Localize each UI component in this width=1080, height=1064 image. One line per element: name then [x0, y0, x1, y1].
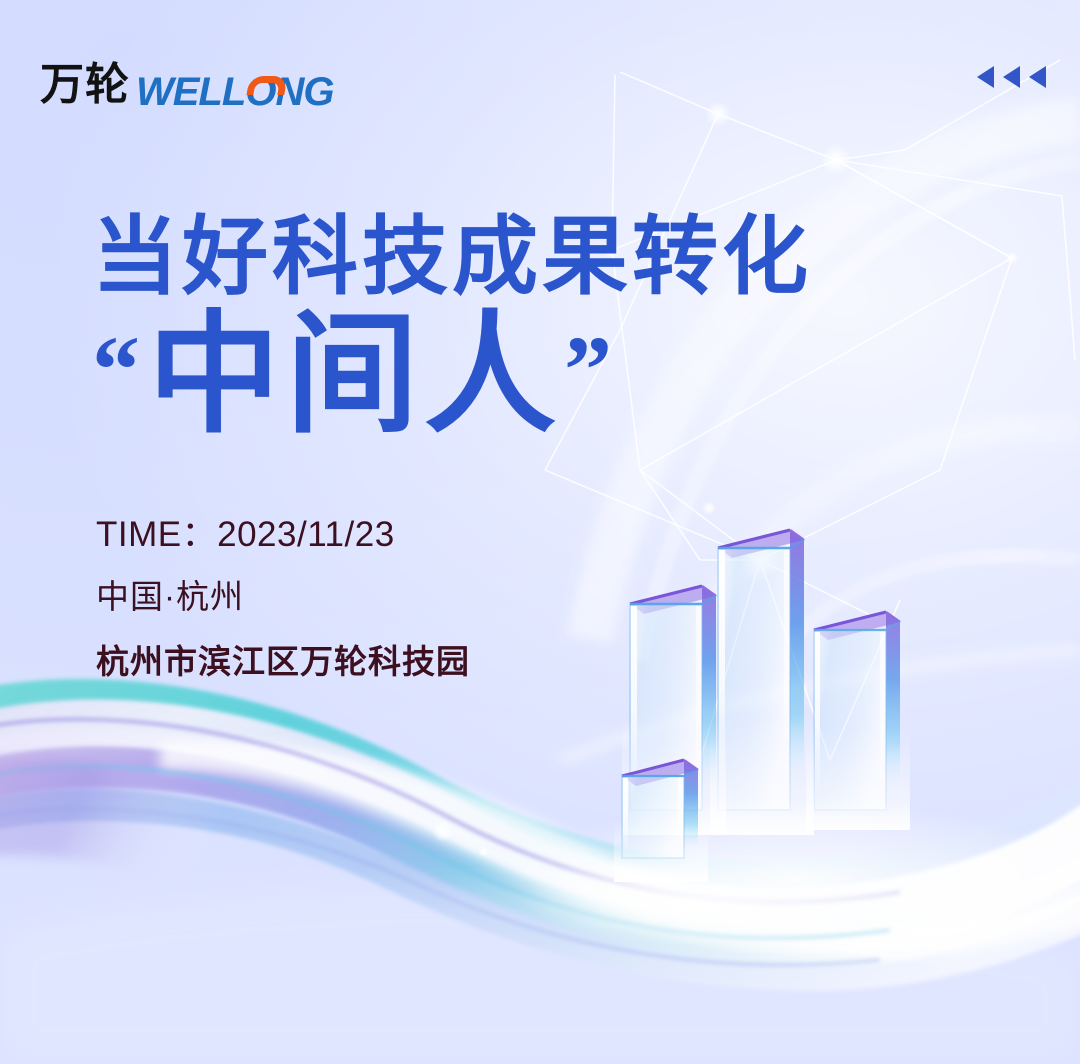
logo-english-name: WELL O NG: [136, 72, 333, 108]
left-arrow-icon-3: [1029, 66, 1046, 88]
logo-letter-o-accent: O: [245, 72, 275, 112]
bar-4: [806, 612, 910, 830]
left-arrow-icon-1: [977, 66, 994, 88]
headline-line-1: 当好科技成果转化: [92, 214, 852, 302]
poster-header: 万轮 WELL O NG: [0, 0, 1080, 150]
wellong-logo[interactable]: 万轮 WELL O NG: [40, 62, 333, 108]
event-info-block: TIME：2023/11/23 中国·杭州 杭州市滨江区万轮科技园: [96, 506, 470, 683]
quote-open: “: [92, 322, 146, 418]
triple-left-arrow-icon: [977, 66, 1046, 88]
left-arrow-icon-2: [1003, 66, 1020, 88]
headline-keyword: 中间人: [148, 308, 562, 443]
event-time: TIME：2023/11/23: [96, 506, 470, 557]
bar-chart-svg: [600, 500, 1020, 920]
event-location: 中国·杭州: [96, 570, 470, 618]
logo-orange-arc: [247, 76, 288, 95]
headline-line-2: “ 中间人 ”: [92, 308, 852, 443]
poster-canvas: 万轮 WELL O NG 当好科技成果转化 “ 中间人 ”: [0, 0, 1080, 1064]
logo-chinese-name: 万轮: [40, 62, 130, 108]
event-venue: 杭州市滨江区万轮科技园: [96, 635, 470, 683]
glass-bar-chart: [600, 500, 1020, 920]
headline-block: 当好科技成果转化 “ 中间人 ”: [92, 214, 852, 442]
logo-text-well: WELL: [136, 72, 245, 112]
quote-close: ”: [564, 322, 618, 418]
bar-1: [614, 760, 708, 882]
